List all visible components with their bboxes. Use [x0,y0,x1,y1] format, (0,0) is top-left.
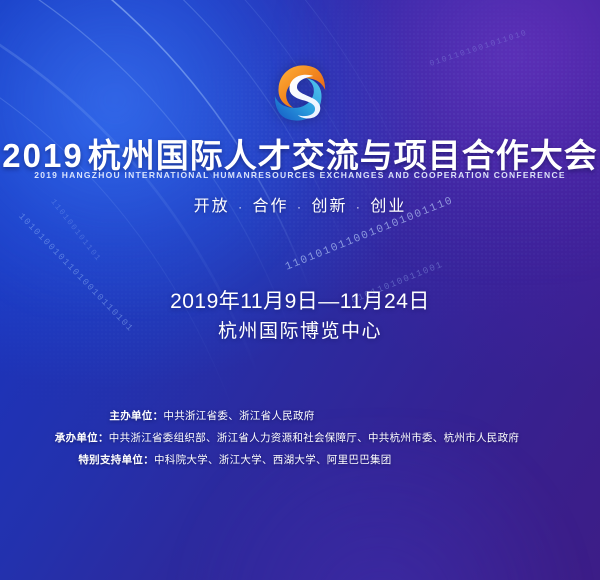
organizer-colon-host: ： [153,408,164,423]
organizer-value-supporter: 中科院大学、浙江大学、西湖大学、阿里巴巴集团 [154,452,392,467]
title-text: 杭州国际人才交流与项目合作大会 [88,137,598,174]
organizer-colon-coorganizer: ： [98,430,109,445]
organizer-label-coorganizer: 承办单位 [55,430,98,445]
organizers-block: 主办单位 ： 中共浙江省委、浙江省人民政府 承办单位 ： 中共浙江省委组织部、浙… [0,408,600,467]
slogan-item-4: 创业 [370,198,406,215]
slogan-separator-2: · [295,200,305,214]
slogan-item-3: 创新 [311,198,347,215]
organizer-label-supporter: 特别支持单位 [78,452,143,467]
organizer-value-host: 中共浙江省委、浙江省人民政府 [163,408,314,423]
organizer-line-host: 主办单位 ： 中共浙江省委、浙江省人民政府 [109,408,314,423]
subtitle-english: 2019 HANGZHOU INTERNATIONAL HUMANRESOURC… [0,170,600,180]
conference-logo-icon [263,56,337,130]
title-year: 2019 [2,137,83,174]
organizer-line-coorganizer: 承办单位 ： 中共浙江省委组织部、浙江省人力资源和社会保障厅、中共杭州市委、杭州… [55,430,519,445]
slogan-item-2: 合作 [253,198,289,215]
event-venue: 杭州国际博览中心 [0,316,600,343]
event-date: 2019年11月9日—11月24日 [0,285,600,315]
poster-content: 2019杭州国际人才交流与项目合作大会 2019 HANGZHOU INTERN… [0,0,600,580]
slogan-item-1: 开放 [194,198,230,215]
slogan-separator-3: · [354,200,364,214]
organizer-colon-supporter: ： [143,452,154,467]
slogan-separator-1: · [236,200,246,214]
organizer-line-supporter: 特别支持单位 ： 中科院大学、浙江大学、西湖大学、阿里巴巴集团 [78,452,391,467]
conference-poster: 1101010110010101001110 01011010011001 10… [0,0,600,580]
slogan: 开放 · 合作 · 创新 · 创业 [0,192,600,216]
organizer-label-host: 主办单位 [109,408,152,423]
organizer-value-coorganizer: 中共浙江省委组织部、浙江省人力资源和社会保障厅、中共杭州市委、杭州市人民政府 [109,430,519,445]
